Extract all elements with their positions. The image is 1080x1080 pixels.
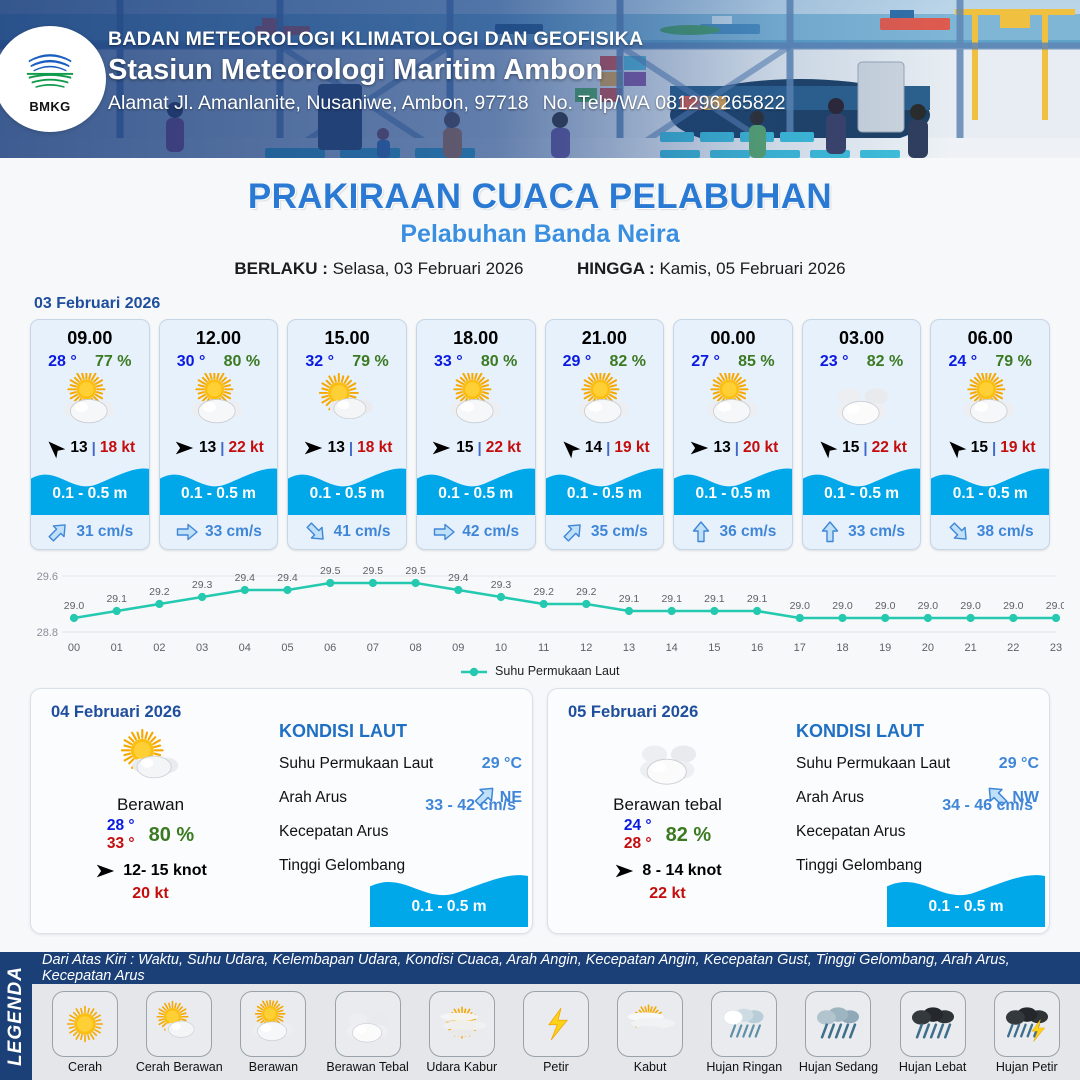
daily-wave-height: 0.1 - 0.5 m — [887, 898, 1045, 916]
agency-name: BADAN METEOROLOGI KLIMATOLOGI DAN GEOFIS… — [108, 28, 785, 51]
legend-cloudy-icon — [335, 991, 401, 1057]
wind-separator: | — [992, 440, 996, 457]
wind-gust: 19 kt — [1000, 439, 1035, 457]
card-temperature: 30 ° — [177, 353, 206, 371]
phone-label: No. Telp/WA — [543, 92, 650, 114]
svg-text:04: 04 — [239, 642, 251, 654]
card-temp-hum-row: 24 ° 79 % — [931, 349, 1049, 371]
svg-text:29.0: 29.0 — [790, 600, 811, 612]
hourly-card: 18.00 33 ° 80 % 15 | 22 kt 0.1 - 0.5 m 4… — [416, 319, 536, 550]
card-wind-row: 13 | 20 kt — [674, 433, 792, 463]
hourly-date: 03 Februari 2026 — [34, 295, 1080, 313]
chart-legend-marker — [461, 667, 487, 677]
card-wind-row: 15 | 22 kt — [417, 433, 535, 463]
wind-speed: 15 — [456, 439, 473, 457]
card-temp-hum-row: 27 ° 85 % — [674, 349, 792, 371]
svg-text:29.0: 29.0 — [918, 600, 939, 612]
legend-thunder-icon — [523, 991, 589, 1057]
legend-item-label: Hujan Sedang — [792, 1060, 885, 1074]
svg-text:20: 20 — [922, 642, 934, 654]
card-weather-mostly-sunny-icon — [288, 371, 406, 433]
current-direction-arrow-icon — [432, 520, 456, 544]
page-header: BMKG BADAN METEOROLOGI KLIMATOLOGI DAN G… — [0, 0, 1080, 158]
current-direction-arrow-icon — [947, 520, 971, 544]
sst-value: 29 °C — [999, 755, 1039, 773]
svg-text:23: 23 — [1050, 642, 1062, 654]
svg-text:29.0: 29.0 — [960, 600, 981, 612]
daily-date: 05 Februari 2026 — [568, 703, 698, 722]
legend-sunny-icon — [52, 991, 118, 1057]
daily-wind-gust: 20 kt — [43, 885, 258, 903]
legend-moderate-rain-icon — [805, 991, 871, 1057]
svg-text:29.0: 29.0 — [64, 600, 85, 612]
svg-text:29.4: 29.4 — [277, 572, 298, 584]
valid-until-value: Kamis, 05 Februari 2026 — [659, 259, 845, 278]
svg-text:22: 22 — [1007, 642, 1019, 654]
wind-speed: 13 — [328, 439, 345, 457]
wind-separator: | — [220, 440, 224, 457]
sst-chart: 29.628.829.00029.10129.20229.30329.40429… — [16, 560, 1064, 660]
legend-light-rain-icon — [711, 991, 777, 1057]
legend-thunderstorm-icon — [994, 991, 1060, 1057]
hourly-card: 03.00 23 ° 82 % 15 | 22 kt 0.1 - 0.5 m — [802, 319, 922, 550]
card-temperature: 28 ° — [48, 353, 77, 371]
daily-humidity: 82 % — [666, 824, 712, 847]
legend-item-label: Cerah — [39, 1060, 132, 1074]
wind-separator: | — [478, 440, 482, 457]
legend-heavy-rain-icon — [900, 991, 966, 1057]
card-humidity: 80 % — [481, 353, 517, 371]
card-time: 06.00 — [931, 320, 1049, 349]
daily-temps: 24 ° 28 ° 82 % — [560, 817, 775, 854]
sea-conditions-title: KONDISI LAUT — [279, 721, 522, 742]
card-current-row: 33 cm/s — [160, 515, 278, 549]
daily-wind-speed: 8 - 14 knot — [642, 862, 721, 880]
svg-text:29.1: 29.1 — [661, 593, 682, 605]
daily-date: 04 Februari 2026 — [51, 703, 181, 722]
svg-text:18: 18 — [836, 642, 848, 654]
card-wind-row: 14 | 19 kt — [546, 433, 664, 463]
legend-item: Berawan Tebal — [321, 991, 414, 1074]
daily-current-speed-value: 34 - 46 cm/s — [942, 797, 1033, 815]
station-name: Stasiun Meteorologi Maritim Ambon — [108, 54, 785, 87]
current-direction-arrow-icon — [561, 520, 585, 544]
card-weather-partly-cloudy-icon — [417, 371, 535, 433]
card-humidity: 85 % — [738, 353, 774, 371]
card-current-row: 31 cm/s — [31, 515, 149, 549]
current-speed-label: Kecepatan Arus — [796, 823, 905, 841]
wind-direction-arrow-icon — [945, 437, 967, 459]
card-wind-row: 15 | 22 kt — [803, 433, 921, 463]
current-speed-label: Kecepatan Arus — [279, 823, 388, 841]
daily-wave-graphic: 0.1 - 0.5 m — [887, 869, 1045, 927]
card-weather-partly-cloudy-icon — [546, 371, 664, 433]
sst-label: Suhu Permukaan Laut — [279, 755, 433, 773]
card-temp-hum-row: 30 ° 80 % — [160, 349, 278, 371]
legend-item-label: Kabut — [604, 1060, 697, 1074]
current-speed: 31 cm/s — [76, 523, 133, 541]
wind-speed: 15 — [842, 439, 859, 457]
daily-temp-min: 28 ° — [107, 817, 135, 834]
legend-item-label: Berawan — [227, 1060, 320, 1074]
port-name: Pelabuhan Banda Neira — [0, 220, 1080, 249]
current-speed: 33 cm/s — [205, 523, 262, 541]
wave-height: 0.1 - 0.5 m — [803, 485, 921, 503]
valid-from-value: Selasa, 03 Februari 2026 — [333, 259, 524, 278]
hourly-card: 06.00 24 ° 79 % 15 | 19 kt 0.1 - 0.5 m 3… — [930, 319, 1050, 550]
card-wave-band: 0.1 - 0.5 m — [803, 463, 921, 515]
wind-separator: | — [863, 440, 867, 457]
current-speed: 42 cm/s — [462, 523, 519, 541]
sst-value: 29 °C — [482, 755, 522, 773]
svg-text:21: 21 — [964, 642, 976, 654]
validity-period: BERLAKU : Selasa, 03 Februari 2026 HINGG… — [0, 259, 1080, 279]
wind-gust: 22 kt — [486, 439, 521, 457]
svg-text:05: 05 — [281, 642, 293, 654]
wind-speed: 15 — [971, 439, 988, 457]
svg-text:29.0: 29.0 — [1003, 600, 1024, 612]
svg-text:01: 01 — [111, 642, 123, 654]
daily-wind-direction-arrow-icon — [94, 860, 116, 882]
phone-number: 081296265822 — [655, 92, 785, 114]
sst-row: Suhu Permukaan Laut 29 °C — [279, 747, 522, 781]
svg-text:29.2: 29.2 — [533, 586, 554, 598]
sst-chart-svg: 29.628.829.00029.10129.20229.30329.40429… — [16, 560, 1064, 660]
valid-from-label: BERLAKU : — [234, 259, 328, 278]
svg-text:00: 00 — [68, 642, 80, 654]
daily-temp-range: 24 ° 28 ° — [624, 817, 652, 854]
wind-gust: 19 kt — [614, 439, 649, 457]
svg-text:19: 19 — [879, 642, 891, 654]
legend-item-label: Udara Kabur — [415, 1060, 508, 1074]
legend-item-label: Petir — [509, 1060, 602, 1074]
wave-height: 0.1 - 0.5 m — [31, 485, 149, 503]
legend-item: Hujan Sedang — [792, 991, 885, 1074]
svg-text:29.1: 29.1 — [747, 593, 768, 605]
card-temperature: 27 ° — [691, 353, 720, 371]
legend-note: Dari Atas Kiri : Waktu, Suhu Udara, Kele… — [32, 952, 1080, 984]
wind-gust: 22 kt — [872, 439, 907, 457]
svg-text:17: 17 — [794, 642, 806, 654]
legend-item-label: Hujan Petir — [980, 1060, 1073, 1074]
svg-text:29.0: 29.0 — [832, 600, 853, 612]
current-speed-row: Kecepatan Arus — [796, 815, 1039, 849]
bmkg-logo-text: BMKG — [29, 99, 70, 114]
legend-item-label: Berawan Tebal — [321, 1060, 414, 1074]
svg-text:14: 14 — [666, 642, 678, 654]
legend-side-title-text: LEGENDA — [5, 966, 27, 1066]
card-time: 18.00 — [417, 320, 535, 349]
current-direction-arrow-icon — [46, 520, 70, 544]
legend-item: Hujan Ringan — [698, 991, 791, 1074]
card-weather-cloudy-icon — [803, 371, 921, 433]
card-temp-hum-row: 32 ° 79 % — [288, 349, 406, 371]
wind-separator: | — [349, 440, 353, 457]
current-speed: 33 cm/s — [848, 523, 905, 541]
sst-label: Suhu Permukaan Laut — [796, 755, 950, 773]
svg-text:06: 06 — [324, 642, 336, 654]
svg-text:29.0: 29.0 — [875, 600, 896, 612]
card-wind-row: 15 | 19 kt — [931, 433, 1049, 463]
current-direction-label: Arah Arus — [796, 789, 864, 807]
daily-left-block: Berawan tebal 24 ° 28 ° 82 % 8 - 14 knot… — [560, 729, 775, 903]
svg-text:29.5: 29.5 — [405, 565, 426, 577]
svg-text:29.4: 29.4 — [448, 572, 469, 584]
wind-direction-arrow-icon — [688, 437, 710, 459]
legend-item: Petir — [509, 991, 602, 1074]
header-text-block: BADAN METEOROLOGI KLIMATOLOGI DAN GEOFIS… — [108, 28, 785, 115]
daily-condition: Berawan — [43, 795, 258, 815]
card-weather-partly-cloudy-icon — [160, 371, 278, 433]
current-direction-arrow-icon — [689, 520, 713, 544]
wave-height: 0.1 - 0.5 m — [417, 485, 535, 503]
svg-text:29.3: 29.3 — [192, 579, 213, 591]
card-temperature: 29 ° — [563, 353, 592, 371]
wind-speed: 13 — [70, 439, 87, 457]
card-wave-band: 0.1 - 0.5 m — [417, 463, 535, 515]
current-direction-arrow-icon — [818, 520, 842, 544]
current-speed-row: Kecepatan Arus — [279, 815, 522, 849]
station-contact: Alamat Jl. Amanlanite, Nusaniwe, Ambon, … — [108, 92, 785, 115]
sst-row: Suhu Permukaan Laut 29 °C — [796, 747, 1039, 781]
card-current-row: 41 cm/s — [288, 515, 406, 549]
card-time: 21.00 — [546, 320, 664, 349]
card-wave-band: 0.1 - 0.5 m — [546, 463, 664, 515]
card-time: 12.00 — [160, 320, 278, 349]
current-direction-arrow-icon — [175, 520, 199, 544]
wave-height: 0.1 - 0.5 m — [160, 485, 278, 503]
hourly-card: 09.00 28 ° 77 % 13 | 18 kt 0.1 - 0.5 m 3… — [30, 319, 150, 550]
daily-condition: Berawan tebal — [560, 795, 775, 815]
legend-item: Hujan Lebat — [886, 991, 979, 1074]
card-time: 15.00 — [288, 320, 406, 349]
card-time: 00.00 — [674, 320, 792, 349]
svg-text:11: 11 — [538, 642, 549, 654]
card-wave-band: 0.1 - 0.5 m — [288, 463, 406, 515]
legend-item-label: Hujan Ringan — [698, 1060, 791, 1074]
sea-conditions-title: KONDISI LAUT — [796, 721, 1039, 742]
hourly-card: 15.00 32 ° 79 % 13 | 18 kt 0.1 - 0.5 m 4… — [287, 319, 407, 550]
card-current-row: 35 cm/s — [546, 515, 664, 549]
card-wave-band: 0.1 - 0.5 m — [31, 463, 149, 515]
daily-wave-graphic: 0.1 - 0.5 m — [370, 869, 528, 927]
card-weather-partly-cloudy-icon — [31, 371, 149, 433]
svg-text:29.3: 29.3 — [491, 579, 512, 591]
current-speed: 36 cm/s — [719, 523, 776, 541]
daily-wind-speed: 12- 15 knot — [123, 862, 207, 880]
legend-item: Cerah — [39, 991, 132, 1074]
svg-text:09: 09 — [452, 642, 464, 654]
svg-text:12: 12 — [580, 642, 592, 654]
card-humidity: 79 % — [995, 353, 1031, 371]
hourly-card: 21.00 29 ° 82 % 14 | 19 kt 0.1 - 0.5 m 3… — [545, 319, 665, 550]
wind-separator: | — [735, 440, 739, 457]
chart-legend-label: Suhu Permukaan Laut — [495, 664, 619, 678]
svg-text:03: 03 — [196, 642, 208, 654]
card-current-row: 33 cm/s — [803, 515, 921, 549]
wind-gust: 20 kt — [743, 439, 778, 457]
card-wind-row: 13 | 18 kt — [288, 433, 406, 463]
card-humidity: 80 % — [224, 353, 260, 371]
svg-text:07: 07 — [367, 642, 379, 654]
card-current-row: 38 cm/s — [931, 515, 1049, 549]
daily-current-speed-value: 33 - 42 cm/s — [425, 797, 516, 815]
bmkg-logo-icon — [21, 44, 79, 98]
daily-wind-row: 8 - 14 knot — [560, 860, 775, 882]
current-direction-label: Arah Arus — [279, 789, 347, 807]
legend-item-label: Cerah Berawan — [133, 1060, 226, 1074]
legend-side-title: LEGENDA — [0, 952, 32, 1080]
daily-humidity: 80 % — [149, 824, 195, 847]
wind-separator: | — [92, 440, 96, 457]
wind-gust: 22 kt — [228, 439, 263, 457]
legend-item: Kabut — [604, 991, 697, 1074]
card-wind-row: 13 | 22 kt — [160, 433, 278, 463]
svg-text:29.1: 29.1 — [106, 593, 127, 605]
card-wave-band: 0.1 - 0.5 m — [674, 463, 792, 515]
daily-weather-mostly-sunny-icon — [43, 729, 258, 791]
station-address: Alamat Jl. Amanlanite, Nusaniwe, Ambon, … — [108, 92, 529, 114]
current-direction-arrow-icon — [304, 520, 328, 544]
daily-weather-cloudy-icon — [560, 729, 775, 791]
card-time: 09.00 — [31, 320, 149, 349]
current-speed: 38 cm/s — [977, 523, 1034, 541]
svg-text:10: 10 — [495, 642, 507, 654]
svg-text:29.1: 29.1 — [619, 593, 640, 605]
card-humidity: 82 % — [610, 353, 646, 371]
card-temp-hum-row: 23 ° 82 % — [803, 349, 921, 371]
legend-mostly-sunny-icon — [146, 991, 212, 1057]
svg-text:13: 13 — [623, 642, 635, 654]
svg-text:02: 02 — [153, 642, 165, 654]
card-weather-partly-cloudy-icon — [931, 371, 1049, 433]
card-current-row: 42 cm/s — [417, 515, 535, 549]
card-wave-band: 0.1 - 0.5 m — [931, 463, 1049, 515]
svg-text:08: 08 — [409, 642, 421, 654]
svg-text:29.5: 29.5 — [363, 565, 384, 577]
card-wave-band: 0.1 - 0.5 m — [160, 463, 278, 515]
card-weather-partly-cloudy-icon — [674, 371, 792, 433]
wind-direction-arrow-icon — [816, 437, 838, 459]
card-humidity: 82 % — [867, 353, 903, 371]
svg-text:29.2: 29.2 — [576, 586, 597, 598]
legend-item: Hujan Petir — [980, 991, 1073, 1074]
wind-direction-arrow-icon — [173, 437, 195, 459]
card-temp-hum-row: 28 ° 77 % — [31, 349, 149, 371]
hourly-card: 12.00 30 ° 80 % 13 | 22 kt 0.1 - 0.5 m 3… — [159, 319, 279, 550]
svg-text:29.4: 29.4 — [235, 572, 256, 584]
page-title: PRAKIRAAN CUACA PELABUHAN — [0, 177, 1080, 217]
wave-height: 0.1 - 0.5 m — [288, 485, 406, 503]
card-temp-hum-row: 33 ° 80 % — [417, 349, 535, 371]
svg-text:29.5: 29.5 — [320, 565, 341, 577]
wind-gust: 18 kt — [100, 439, 135, 457]
card-temp-hum-row: 29 ° 82 % — [546, 349, 664, 371]
daily-wind-direction-arrow-icon — [613, 860, 635, 882]
legend-haze-icon — [429, 991, 495, 1057]
card-humidity: 79 % — [352, 353, 388, 371]
svg-text:29.2: 29.2 — [149, 586, 170, 598]
wind-direction-arrow-icon — [44, 437, 66, 459]
card-humidity: 77 % — [95, 353, 131, 371]
valid-until-label: HINGGA : — [577, 259, 655, 278]
hourly-forecast-row: 09.00 28 ° 77 % 13 | 18 kt 0.1 - 0.5 m 3… — [0, 319, 1080, 550]
daily-wave-height: 0.1 - 0.5 m — [370, 898, 528, 916]
wave-height: 0.1 - 0.5 m — [546, 485, 664, 503]
wind-speed: 13 — [714, 439, 731, 457]
chart-legend: Suhu Permukaan Laut — [0, 664, 1080, 678]
legend-item: Udara Kabur — [415, 991, 508, 1074]
daily-forecast-panel: 04 Februari 2026 Berawan 28 ° 33 ° 80 % … — [30, 688, 533, 934]
wind-gust: 18 kt — [357, 439, 392, 457]
wind-separator: | — [606, 440, 610, 457]
card-temperature: 24 ° — [949, 353, 978, 371]
hourly-card: 00.00 27 ° 85 % 13 | 20 kt 0.1 - 0.5 m 3… — [673, 319, 793, 550]
legend-item: Berawan — [227, 991, 320, 1074]
current-speed: 35 cm/s — [591, 523, 648, 541]
legend-items-row: Cerah Cerah Berawan Berawan Berawan Teba… — [32, 984, 1080, 1080]
daily-temp-range: 28 ° 33 ° — [107, 817, 135, 854]
daily-wind-row: 12- 15 knot — [43, 860, 258, 882]
svg-text:29.0: 29.0 — [1046, 600, 1064, 612]
legend-fog-icon — [617, 991, 683, 1057]
legend-area: LEGENDA Dari Atas Kiri : Waktu, Suhu Uda… — [0, 952, 1080, 1080]
wave-height: 0.1 - 0.5 m — [931, 485, 1049, 503]
card-temperature: 32 ° — [305, 353, 334, 371]
daily-temp-max: 28 ° — [624, 835, 652, 852]
daily-forecast-panel: 05 Februari 2026 Berawan tebal 24 ° 28 °… — [547, 688, 1050, 934]
card-time: 03.00 — [803, 320, 921, 349]
wind-direction-arrow-icon — [559, 437, 581, 459]
daily-temps: 28 ° 33 ° 80 % — [43, 817, 258, 854]
wind-speed: 14 — [585, 439, 602, 457]
daily-left-block: Berawan 28 ° 33 ° 80 % 12- 15 knot 20 kt — [43, 729, 258, 903]
daily-temp-min: 24 ° — [624, 817, 652, 834]
legend-partly-cloudy-icon — [240, 991, 306, 1057]
card-temperature: 33 ° — [434, 353, 463, 371]
card-temperature: 23 ° — [820, 353, 849, 371]
svg-text:29.1: 29.1 — [704, 593, 725, 605]
svg-text:28.8: 28.8 — [37, 627, 58, 639]
wave-height: 0.1 - 0.5 m — [674, 485, 792, 503]
legend-item-label: Hujan Lebat — [886, 1060, 979, 1074]
svg-text:15: 15 — [708, 642, 720, 654]
svg-text:16: 16 — [751, 642, 763, 654]
wind-direction-arrow-icon — [302, 437, 324, 459]
wind-speed: 13 — [199, 439, 216, 457]
svg-text:29.6: 29.6 — [37, 571, 58, 583]
card-wind-row: 13 | 18 kt — [31, 433, 149, 463]
daily-temp-max: 33 ° — [107, 835, 135, 852]
daily-wind-gust: 22 kt — [560, 885, 775, 903]
card-current-row: 36 cm/s — [674, 515, 792, 549]
legend-item: Cerah Berawan — [133, 991, 226, 1074]
current-speed: 41 cm/s — [334, 523, 391, 541]
wind-direction-arrow-icon — [430, 437, 452, 459]
daily-forecast-row: 04 Februari 2026 Berawan 28 ° 33 ° 80 % … — [0, 678, 1080, 934]
